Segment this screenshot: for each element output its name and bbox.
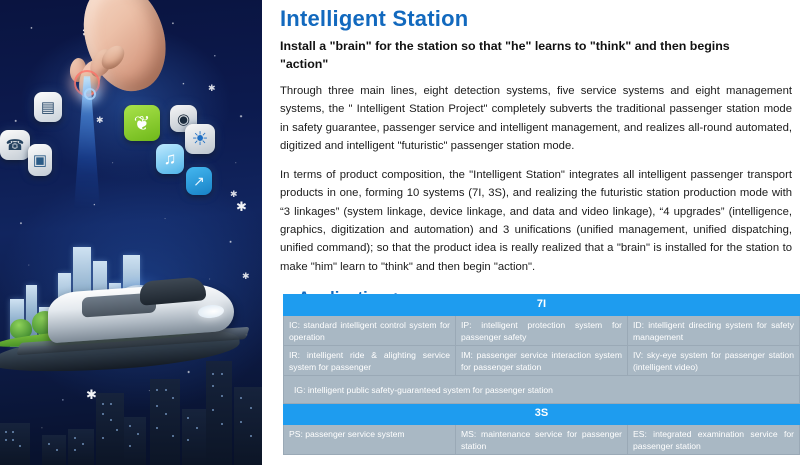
- sparkle-icon: ✱: [236, 200, 247, 213]
- high-speed-train-graphic: [48, 277, 248, 353]
- cell-ms: MS: maintenance service for passenger st…: [456, 425, 628, 455]
- table-row-header-7i: 7I: [284, 295, 800, 316]
- atm-machine-icon: ▣: [28, 144, 52, 176]
- table-row: IC: standard intelligent control system …: [284, 315, 800, 345]
- page-subtitle: Install a "brain" for the station so tha…: [280, 38, 780, 74]
- cell-ip: IP: intelligent protection system for pa…: [456, 315, 628, 345]
- city-skyline-dark: [0, 345, 262, 465]
- systems-table: 7I IC: standard intelligent control syst…: [283, 294, 800, 455]
- description-paragraph-2: In terms of product composition, the "In…: [280, 166, 792, 276]
- music-note-icon: ♫: [156, 144, 184, 174]
- cell-id: ID: intelligent directing system for saf…: [628, 315, 800, 345]
- chart-icon: ↗: [186, 167, 212, 195]
- description-paragraph-1: Through three main lines, eight detectio…: [280, 82, 792, 155]
- table-header-3s: 3S: [284, 404, 800, 425]
- touch-point-icon: [84, 88, 96, 100]
- table-header-7i: 7I: [284, 295, 800, 316]
- table-row: IG: intelligent public safety-guaranteed…: [284, 376, 800, 404]
- cell-es: ES: integrated examination service for p…: [628, 425, 800, 455]
- ticket-kiosk-icon: ▤: [34, 92, 62, 122]
- brochure-page: ✱ ✱ ✱ ✱ ✱ ✱ ✱ ✱ ✱ ▤ ☎ ▣ ❦ ◉ ☀ ♫ ↗: [0, 0, 800, 465]
- cell-im: IM: passenger service interaction system…: [456, 346, 628, 376]
- cell-iv: IV: sky-eye system for passenger station…: [628, 346, 800, 376]
- cell-ig: IG: intelligent public safety-guaranteed…: [284, 376, 800, 404]
- table-row-header-3s: 3S: [284, 404, 800, 425]
- green-leaf-icon: ❦: [124, 105, 160, 141]
- hero-illustration: ✱ ✱ ✱ ✱ ✱ ✱ ✱ ✱ ✱ ▤ ☎ ▣ ❦ ◉ ☀ ♫ ↗: [0, 0, 262, 465]
- mobile-phone-icon: ☎: [0, 130, 30, 160]
- globe-icon: ☀: [185, 124, 215, 154]
- cell-ir: IR: intelligent ride & alighting service…: [284, 346, 456, 376]
- sparkle-icon: ✱: [96, 116, 104, 125]
- table-row: IR: intelligent ride & alighting service…: [284, 346, 800, 376]
- sparkle-icon: ✱: [208, 84, 216, 93]
- cell-ps: PS: passenger service system: [284, 425, 456, 455]
- page-title: Intelligent Station: [280, 6, 798, 32]
- table-row: PS: passenger service system MS: mainten…: [284, 425, 800, 455]
- sparkle-icon: ✱: [230, 190, 238, 199]
- content-column: Intelligent Station Install a "brain" fo…: [272, 0, 800, 465]
- cell-ic: IC: standard intelligent control system …: [284, 315, 456, 345]
